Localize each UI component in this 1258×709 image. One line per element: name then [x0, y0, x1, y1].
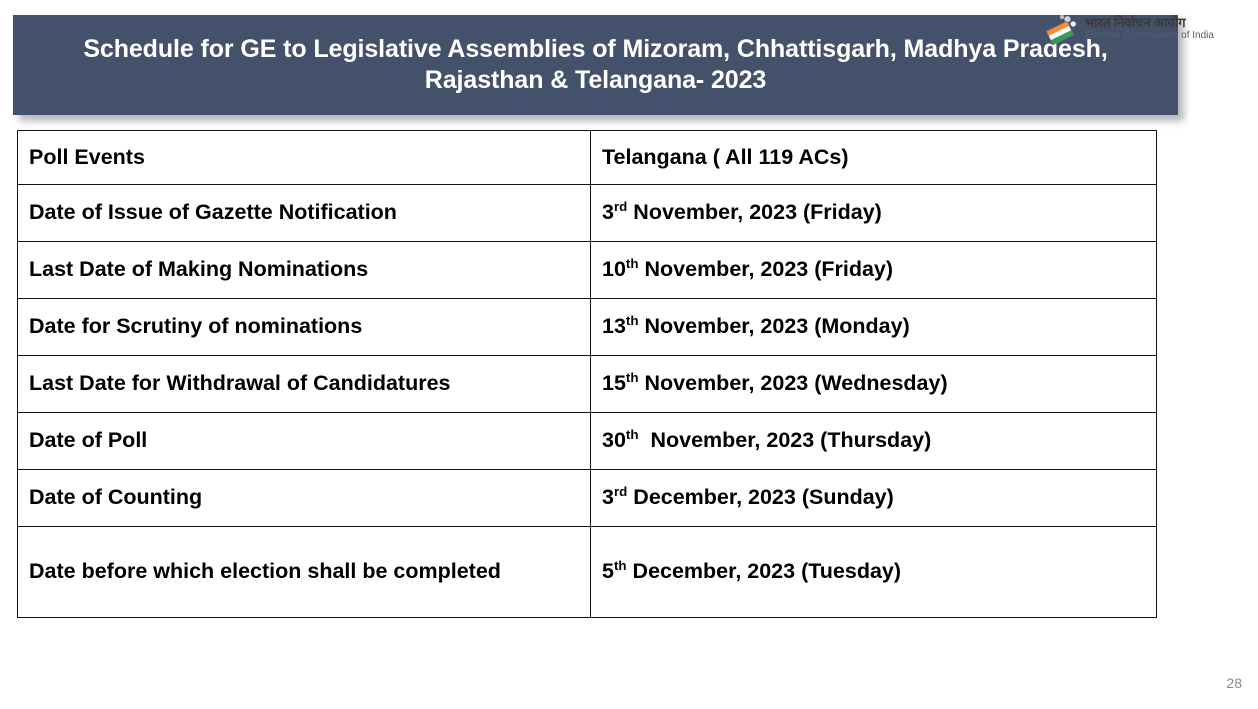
eci-emblem-icon: [1043, 15, 1079, 45]
cell-poll-date: 13th November, 2023 (Monday): [591, 299, 1157, 356]
table-row: Last Date for Withdrawal of Candidatures…: [18, 356, 1157, 413]
date-day-number: 15: [602, 371, 626, 395]
date-ordinal-suffix: th: [626, 256, 639, 271]
date-month-year-day: November, 2023 (Friday): [627, 200, 882, 224]
eci-logo-text: भारत निर्वाचन आयोग Election Commission o…: [1085, 15, 1214, 41]
cell-poll-date: 3rd November, 2023 (Friday): [591, 185, 1157, 242]
date-day-number: 3: [602, 485, 614, 509]
table-row: Date for Scrutiny of nominations13th Nov…: [18, 299, 1157, 356]
table-row: Date before which election shall be comp…: [18, 527, 1157, 618]
date-ordinal-suffix: th: [626, 313, 639, 328]
date-ordinal-suffix: th: [614, 558, 627, 573]
date-day-number: 13: [602, 314, 626, 338]
date-month-year-day: December, 2023 (Sunday): [627, 485, 893, 509]
date-day-number: 10: [602, 257, 626, 281]
date-day-number: 30: [602, 428, 626, 452]
cell-poll-event: Date for Scrutiny of nominations: [18, 299, 591, 356]
cell-poll-date: 5th December, 2023 (Tuesday): [591, 527, 1157, 618]
date-month-year-day: November, 2023 (Thursday): [639, 428, 932, 452]
table-row: Date of Poll30th November, 2023 (Thursda…: [18, 413, 1157, 470]
date-ordinal-suffix: rd: [614, 199, 627, 214]
slide-title-banner: Schedule for GE to Legislative Assemblie…: [13, 15, 1178, 115]
date-month-year-day: November, 2023 (Monday): [639, 314, 910, 338]
page-title: Schedule for GE to Legislative Assemblie…: [41, 34, 1151, 96]
election-commission-logo: भारत निर्वाचन आयोग Election Commission o…: [1043, 15, 1214, 45]
table-header-row: Poll Events Telangana ( All 119 ACs): [18, 131, 1157, 185]
cell-poll-event: Date of Poll: [18, 413, 591, 470]
date-ordinal-suffix: rd: [614, 484, 627, 499]
column-header-telangana: Telangana ( All 119 ACs): [591, 131, 1157, 185]
date-month-year-day: November, 2023 (Friday): [639, 257, 894, 281]
cell-poll-event: Last Date of Making Nominations: [18, 242, 591, 299]
date-ordinal-suffix: th: [626, 370, 639, 385]
date-month-year-day: November, 2023 (Wednesday): [639, 371, 948, 395]
cell-poll-event: Date of Counting: [18, 470, 591, 527]
eci-logo-english-text: Election Commission of India: [1085, 31, 1214, 42]
cell-poll-date: 10th November, 2023 (Friday): [591, 242, 1157, 299]
table-row: Date of Issue of Gazette Notification3rd…: [18, 185, 1157, 242]
cell-poll-date: 15th November, 2023 (Wednesday): [591, 356, 1157, 413]
poll-schedule-table: Poll Events Telangana ( All 119 ACs) Dat…: [17, 130, 1157, 618]
table-row: Last Date of Making Nominations10th Nove…: [18, 242, 1157, 299]
table-row: Date of Counting3rd December, 2023 (Sund…: [18, 470, 1157, 527]
cell-poll-event: Last Date for Withdrawal of Candidatures: [18, 356, 591, 413]
date-ordinal-suffix: th: [626, 427, 639, 442]
cell-poll-event: Date of Issue of Gazette Notification: [18, 185, 591, 242]
table-body: Poll Events Telangana ( All 119 ACs) Dat…: [18, 131, 1157, 618]
date-day-number: 5: [602, 559, 614, 583]
page-number: 28: [1226, 675, 1242, 691]
eci-logo-hindi-text: भारत निर्वाचन आयोग: [1085, 16, 1214, 30]
cell-poll-event: Date before which election shall be comp…: [18, 527, 591, 618]
column-header-poll-events: Poll Events: [18, 131, 591, 185]
date-month-year-day: December, 2023 (Tuesday): [627, 559, 901, 583]
cell-poll-date: 30th November, 2023 (Thursday): [591, 413, 1157, 470]
date-day-number: 3: [602, 200, 614, 224]
cell-poll-date: 3rd December, 2023 (Sunday): [591, 470, 1157, 527]
